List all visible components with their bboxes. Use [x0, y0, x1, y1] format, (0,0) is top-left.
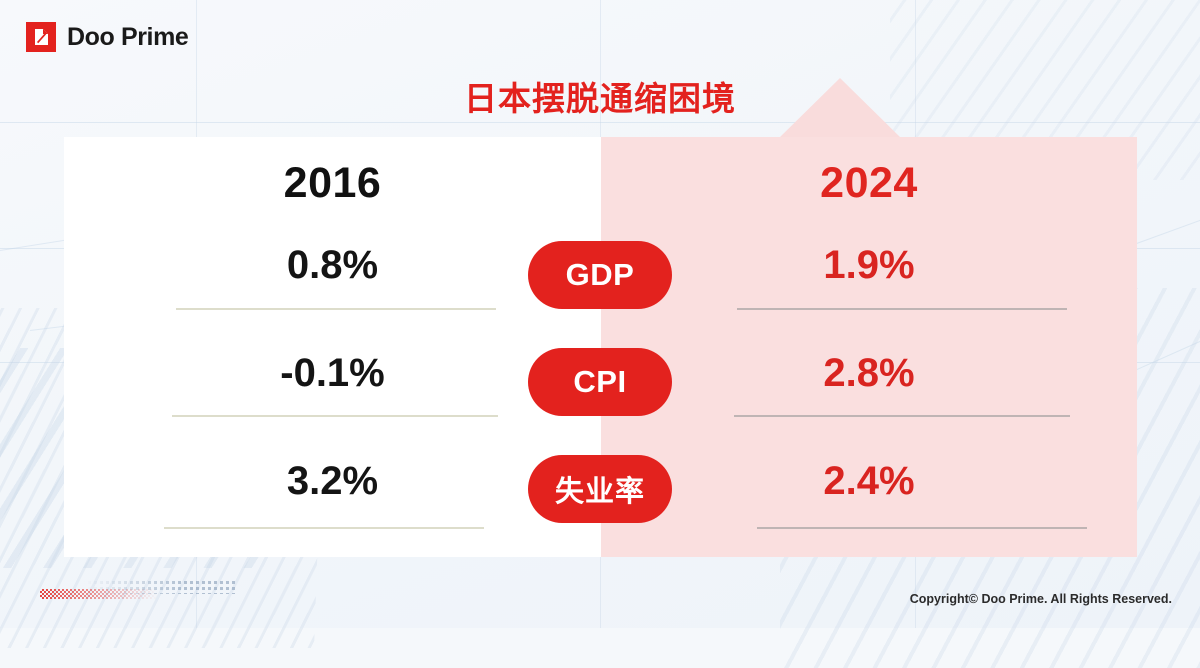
metric-label-pills: GDP CPI 失业率	[528, 241, 672, 562]
metric-value-left: 3.2%	[64, 449, 601, 513]
panel-left-2016: 2016 0.8% -0.1% 3.2%	[64, 137, 601, 557]
metric-value-left: -0.1%	[64, 341, 601, 405]
metric-pill-gdp[interactable]: GDP	[528, 241, 672, 309]
metric-value-right: 2.8%	[601, 341, 1137, 405]
year-label-left: 2016	[64, 159, 601, 208]
panel-right-2024: 2024 1.9% 2.8% 2.4%	[601, 137, 1137, 557]
year-label-right: 2024	[601, 159, 1137, 208]
metric-row: 1.9%	[601, 233, 1137, 341]
row-divider	[737, 308, 1067, 310]
page-title: 日本摆脱通缩困境	[0, 72, 1200, 120]
row-divider	[164, 527, 484, 529]
copyright-text: Copyright© Doo Prime. All Rights Reserve…	[910, 592, 1172, 606]
row-divider	[176, 308, 496, 310]
header: Doo Prime	[0, 0, 1200, 80]
row-divider	[757, 527, 1087, 529]
metric-value-right: 1.9%	[601, 233, 1137, 297]
metric-pill-cpi[interactable]: CPI	[528, 348, 672, 416]
metric-row: 2.4%	[601, 449, 1137, 557]
metric-row: -0.1%	[64, 341, 601, 449]
metric-row: 3.2%	[64, 449, 601, 557]
metric-row: 2.8%	[601, 341, 1137, 449]
left-metric-rows: 0.8% -0.1% 3.2%	[64, 233, 601, 557]
dot-pattern-icon	[28, 575, 238, 610]
row-divider	[172, 415, 498, 417]
doo-prime-logo-icon	[26, 22, 56, 52]
brand-logo: Doo Prime	[26, 22, 188, 52]
metric-value-right: 2.4%	[601, 449, 1137, 513]
metric-value-left: 0.8%	[64, 233, 601, 297]
metric-pill-unemployment[interactable]: 失业率	[528, 455, 672, 523]
right-metric-rows: 1.9% 2.8% 2.4%	[601, 233, 1137, 557]
metric-row: 0.8%	[64, 233, 601, 341]
brand-name: Doo Prime	[67, 23, 188, 52]
row-divider	[734, 415, 1070, 417]
footer: Copyright© Doo Prime. All Rights Reserve…	[0, 566, 1200, 628]
